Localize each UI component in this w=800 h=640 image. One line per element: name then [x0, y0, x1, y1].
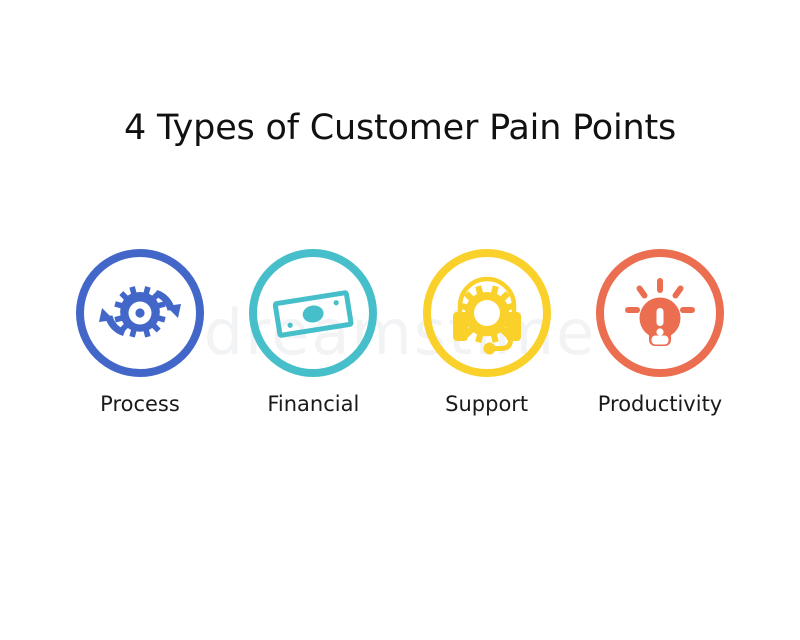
- item-label-process: Process: [100, 394, 180, 415]
- lightbulb-icon: [595, 248, 725, 378]
- icon-circle-support: [422, 248, 552, 378]
- pain-point-item-financial[interactable]: Financial: [233, 248, 393, 415]
- item-label-productivity: Productivity: [598, 394, 723, 415]
- pain-point-item-support[interactable]: Support: [407, 248, 567, 415]
- pain-point-item-productivity[interactable]: Productivity: [580, 248, 740, 415]
- item-label-support: Support: [445, 394, 528, 415]
- icon-circle-financial: [248, 248, 378, 378]
- page-title: 4 Types of Customer Pain Points: [0, 108, 800, 148]
- pain-point-items-row: Process Financial: [60, 248, 740, 438]
- banknote-icon: [248, 248, 378, 378]
- item-label-financial: Financial: [267, 394, 359, 415]
- pain-point-item-process[interactable]: Process: [60, 248, 220, 415]
- infographic-canvas: dreamstime 4 Types of Customer Pain Poin…: [0, 0, 800, 640]
- gear-refresh-icon: [75, 248, 205, 378]
- icon-circle-productivity: [595, 248, 725, 378]
- headset-gear-icon: [422, 248, 552, 378]
- icon-circle-process: [75, 248, 205, 378]
